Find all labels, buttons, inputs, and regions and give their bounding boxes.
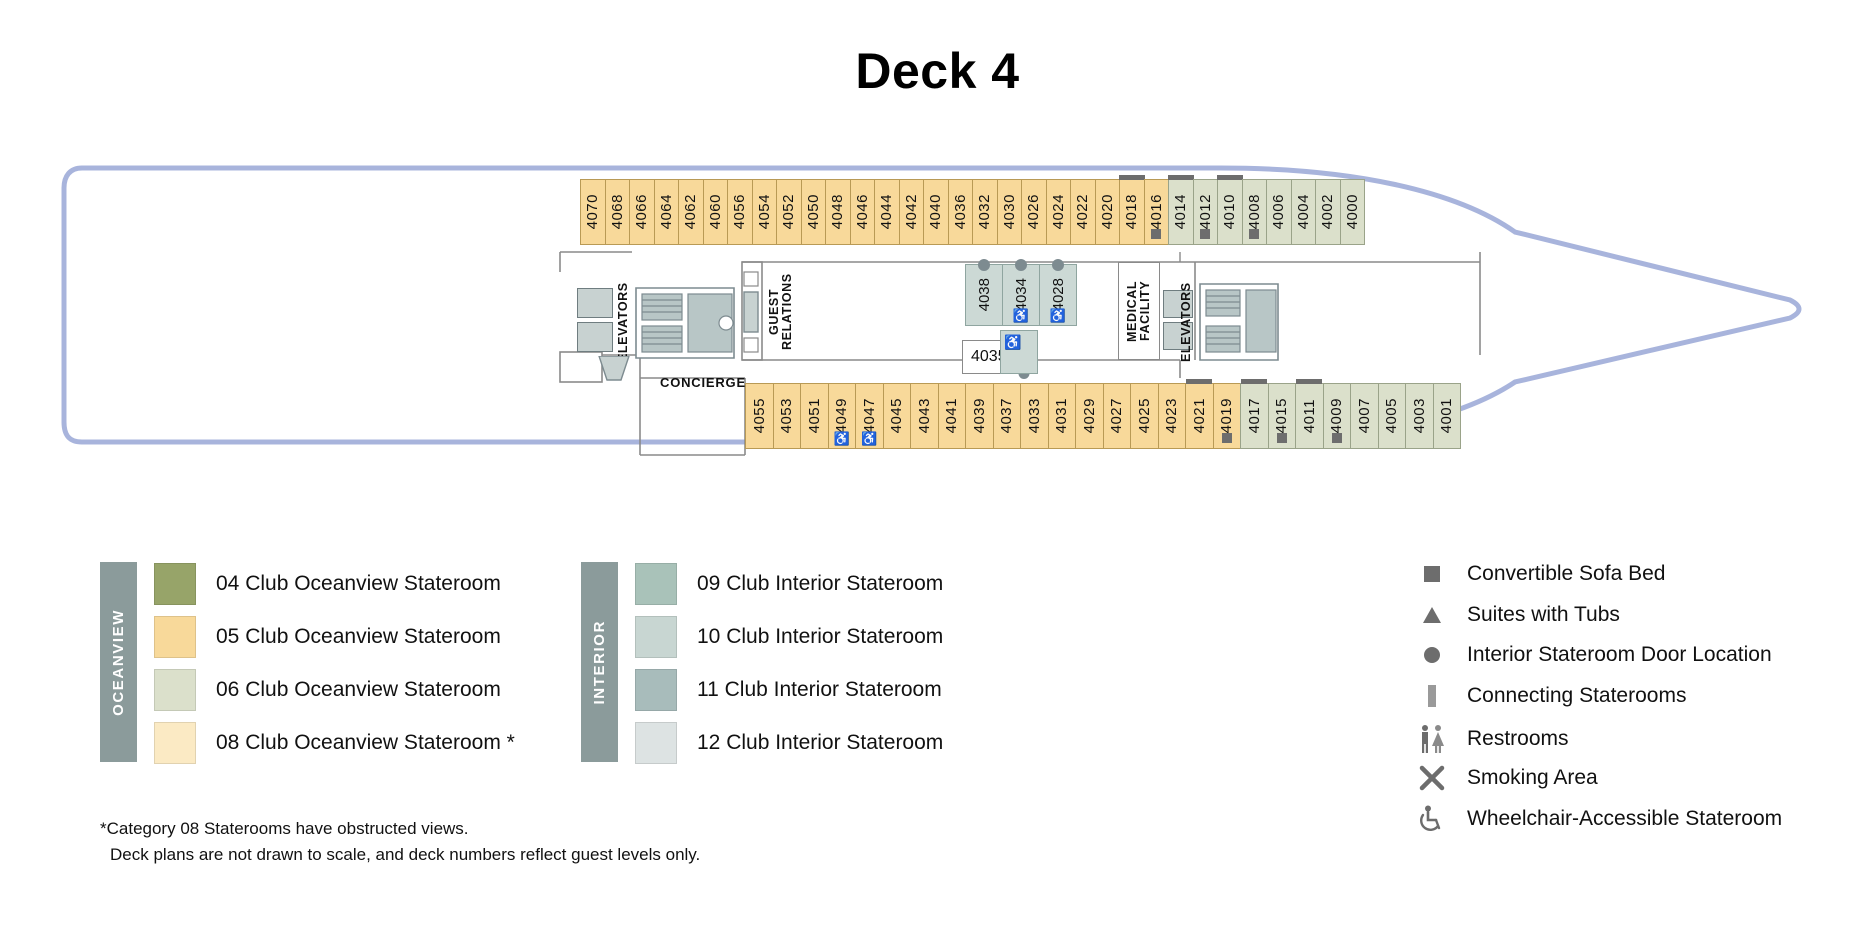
stateroom-4027[interactable]: 4027 (1103, 383, 1132, 449)
stateroom-4044[interactable]: 4044 (874, 179, 900, 245)
stateroom-number-label: 4062 (683, 194, 698, 229)
stateroom-number-label: 4006 (1271, 194, 1286, 229)
stateroom-number-label: 4053 (779, 398, 794, 433)
stateroom-number-label: 4029 (1082, 398, 1097, 433)
bar-icon (1241, 379, 1267, 384)
stateroom-number-label: 4036 (953, 194, 968, 229)
stateroom-4053[interactable]: 4053 (773, 383, 802, 449)
stateroom-number-label: 4012 (1198, 194, 1213, 229)
stateroom-4040[interactable]: 4040 (923, 179, 949, 245)
stateroom-4000[interactable]: 4000 (1340, 179, 1366, 245)
stateroom-number-label: 4070 (585, 194, 600, 229)
footnote: *Category 08 Staterooms have obstructed … (100, 816, 700, 867)
stateroom-4022[interactable]: 4022 (1070, 179, 1096, 245)
interior-stateroom-4034[interactable]: 4034♿ (1002, 264, 1040, 326)
square-icon (1249, 229, 1259, 239)
legend-label-11: 11 Club Interior Stateroom (697, 678, 942, 702)
stateroom-4064[interactable]: 4064 (654, 179, 680, 245)
elevator-car-aft-2[interactable] (577, 322, 613, 352)
legend-category-bar-interior-label: INTERIOR (591, 620, 608, 704)
legend-symbol-label: Suites with Tubs (1467, 603, 1620, 627)
wheelchair-icon: ♿ (1013, 309, 1029, 322)
triangle-icon (1415, 606, 1449, 624)
stateroom-row-top: 4070406840664064406240604056405440524050… (580, 179, 1364, 245)
stateroom-4008[interactable]: 4008 (1242, 179, 1268, 245)
stateroom-4052[interactable]: 4052 (776, 179, 802, 245)
stateroom-number-label: 4033 (1027, 398, 1042, 433)
square-icon (1200, 229, 1210, 239)
legend-symbol-label: Wheelchair-Accessible Stateroom (1467, 807, 1782, 831)
guest-relations-label: GUEST RELATIONS (768, 272, 794, 352)
wheelchair-icon: ♿ (834, 432, 850, 445)
legend-label-05: 05 Club Oceanview Stateroom (216, 625, 501, 649)
footnote-line-2: Deck plans are not drawn to scale, and d… (100, 842, 700, 868)
stateroom-4029[interactable]: 4029 (1075, 383, 1104, 449)
legend-symbol-label: Connecting Staterooms (1467, 684, 1686, 708)
legend-category-bar-oceanview-label: OCEANVIEW (110, 609, 127, 716)
stateroom-number-label: 4004 (1296, 194, 1311, 229)
stateroom-number-label: 4032 (977, 194, 992, 229)
legend-category-bar-interior: INTERIOR (581, 562, 618, 762)
square-icon (1151, 229, 1161, 239)
circle-icon (1052, 259, 1064, 271)
bar-icon (1217, 175, 1243, 180)
wheelchair-icon: ♿ (1050, 309, 1066, 322)
square-icon (1415, 565, 1449, 583)
stateroom-number-label: 4018 (1124, 194, 1139, 229)
stateroom-number-label: 4027 (1109, 398, 1124, 433)
stateroom-4005[interactable]: 4005 (1378, 383, 1407, 449)
legend-symbol-label: Convertible Sofa Bed (1467, 562, 1665, 586)
stateroom-number-label: 4014 (1173, 194, 1188, 229)
interior-stateroom-4028[interactable]: 4028♿ (1039, 264, 1077, 326)
stateroom-4042[interactable]: 4042 (899, 179, 925, 245)
stateroom-4033[interactable]: 4033 (1020, 383, 1049, 449)
stateroom-4026[interactable]: 4026 (1021, 179, 1047, 245)
legend-item-11: 11 Club Interior Stateroom (635, 669, 942, 711)
bar-icon (1296, 379, 1322, 384)
stateroom-number-label: 4008 (1247, 194, 1262, 229)
wheelchair-icon: ♿ (1004, 334, 1021, 351)
legend-symbol-item-5: Smoking Area (1415, 765, 1598, 791)
legend-symbol-item-2: Interior Stateroom Door Location (1415, 643, 1772, 667)
legend-swatch-10 (635, 616, 677, 658)
stateroom-4050[interactable]: 4050 (801, 179, 827, 245)
elevators-aft-label: ELEVATORS (617, 290, 630, 362)
stateroom-number-label: 4011 (1302, 399, 1317, 433)
concierge-label: CONCIERGE (660, 375, 746, 390)
stateroom-number-label: 4050 (806, 194, 821, 229)
wheelchair-icon: ♿ (861, 432, 877, 445)
legend-swatch-12 (635, 722, 677, 764)
stateroom-4011[interactable]: 4011 (1295, 383, 1324, 449)
square-icon (1222, 433, 1232, 443)
stateroom-4025[interactable]: 4025 (1130, 383, 1159, 449)
legend-swatch-04 (154, 563, 196, 605)
interior-stateroom-number-label: 4038 (976, 278, 993, 311)
stateroom-number-label: 4022 (1075, 194, 1090, 229)
stateroom-number-label: 4000 (1345, 194, 1360, 229)
stateroom-number-label: 4021 (1192, 398, 1207, 433)
stateroom-number-label: 4066 (634, 194, 649, 229)
stateroom-number-label: 4019 (1219, 398, 1234, 433)
legend-label-12: 12 Club Interior Stateroom (697, 731, 943, 755)
stateroom-number-label: 4055 (752, 398, 767, 433)
legend-symbol-item-1: Suites with Tubs (1415, 603, 1620, 627)
bar-icon (1415, 684, 1449, 708)
stateroom-number-label: 4039 (972, 398, 987, 433)
stateroom-4048[interactable]: 4048 (825, 179, 851, 245)
stateroom-number-label: 4042 (904, 194, 919, 229)
bar-icon (1168, 175, 1194, 180)
stateroom-number-label: 4052 (781, 194, 796, 229)
legend-label-10: 10 Club Interior Stateroom (697, 625, 943, 649)
stateroom-number-label: 4015 (1274, 398, 1289, 433)
stateroom-4036[interactable]: 4036 (948, 179, 974, 245)
legend-symbol-item-0: Convertible Sofa Bed (1415, 562, 1665, 586)
stateroom-4012[interactable]: 4012 (1193, 179, 1219, 245)
stateroom-4051[interactable]: 4051 (800, 383, 829, 449)
interior-stateroom-number-label: 4028 (1050, 278, 1067, 311)
stateroom-4060[interactable]: 4060 (703, 179, 729, 245)
stateroom-number-label: 4047 (862, 398, 877, 433)
deck-structure-lines (0, 0, 1875, 938)
legend-symbol-label: Interior Stateroom Door Location (1467, 643, 1772, 667)
stateroom-number-label: 4031 (1054, 398, 1069, 433)
legend-item-09: 09 Club Interior Stateroom (635, 563, 943, 605)
legend-swatch-05 (154, 616, 196, 658)
stateroom-4047[interactable]: 4047♿ (855, 383, 884, 449)
stateroom-4007[interactable]: 4007 (1350, 383, 1379, 449)
legend-swatch-09 (635, 563, 677, 605)
stateroom-number-label: 4048 (830, 194, 845, 229)
stateroom-number-label: 4060 (708, 194, 723, 229)
elevators-fwd-label: ELEVATORS (1180, 290, 1193, 362)
stateroom-4031[interactable]: 4031 (1048, 383, 1077, 449)
stateroom-number-label: 4045 (889, 398, 904, 433)
legend-item-06: 06 Club Oceanview Stateroom (154, 669, 501, 711)
stateroom-number-label: 4023 (1164, 398, 1179, 433)
square-icon (1332, 433, 1342, 443)
legend-item-04: 04 Club Oceanview Stateroom (154, 563, 501, 605)
stateroom-4030[interactable]: 4030 (997, 179, 1023, 245)
elevator-car-aft-1[interactable] (577, 288, 613, 318)
stair-landing-aft-icon (597, 356, 631, 382)
legend-symbol-label: Restrooms (1467, 727, 1569, 751)
stateroom-number-label: 4007 (1357, 398, 1372, 433)
stateroom-4021[interactable]: 4021 (1185, 383, 1214, 449)
legend-symbol-item-6: Wheelchair-Accessible Stateroom (1415, 805, 1782, 833)
interior-stateroom-block: 40384034♿4028♿ (965, 264, 1076, 326)
legend-symbol-label: Smoking Area (1467, 766, 1598, 790)
stateroom-4045[interactable]: 4045 (883, 383, 912, 449)
legend-label-09: 09 Club Interior Stateroom (697, 572, 943, 596)
legend-item-05: 05 Club Oceanview Stateroom (154, 616, 501, 658)
staircase-fwd-icon (1196, 276, 1282, 368)
stateroom-number-label: 4054 (757, 194, 772, 229)
stateroom-4037[interactable]: 4037 (993, 383, 1022, 449)
stateroom-number-label: 4068 (610, 194, 625, 229)
interior-stateroom-4038[interactable]: 4038 (965, 264, 1003, 326)
stateroom-4016[interactable]: 4016 (1144, 179, 1170, 245)
stateroom-number-label: 4009 (1329, 398, 1344, 433)
bar-icon (1119, 175, 1145, 180)
stateroom-number-label: 4010 (1222, 194, 1237, 229)
stateroom-number-label: 4020 (1100, 194, 1115, 229)
stateroom-4010[interactable]: 4010 (1217, 179, 1243, 245)
stateroom-number-label: 4026 (1026, 194, 1041, 229)
legend-swatch-08 (154, 722, 196, 764)
legend-item-10: 10 Club Interior Stateroom (635, 616, 943, 658)
stateroom-4056[interactable]: 4056 (727, 179, 753, 245)
stateroom-number-label: 4043 (917, 398, 932, 433)
stateroom-4032[interactable]: 4032 (972, 179, 998, 245)
stateroom-4049[interactable]: 4049♿ (828, 383, 857, 449)
stateroom-number-label: 4044 (879, 194, 894, 229)
legend-symbol-item-3: Connecting Staterooms (1415, 684, 1686, 708)
stateroom-4070[interactable]: 4070 (580, 179, 606, 245)
stateroom-number-label: 4051 (807, 398, 822, 433)
stateroom-row-bottom: 4055405340514049♿4047♿404540434041403940… (745, 383, 1460, 449)
square-icon (1277, 433, 1287, 443)
interior-stateroom-number-label: 4034 (1013, 278, 1030, 311)
legend-swatch-11 (635, 669, 677, 711)
circle-icon (978, 259, 990, 271)
stateroom-number-label: 4030 (1002, 194, 1017, 229)
stateroom-4014[interactable]: 4014 (1168, 179, 1194, 245)
stateroom-number-label: 4003 (1412, 398, 1427, 433)
stateroom-number-label: 4040 (928, 194, 943, 229)
stateroom-number-label: 4001 (1439, 398, 1454, 433)
legend-label-08: 08 Club Oceanview Stateroom * (216, 731, 515, 755)
stateroom-4019[interactable]: 4019 (1213, 383, 1242, 449)
legend-label-04: 04 Club Oceanview Stateroom (216, 572, 501, 596)
circle-icon (1015, 259, 1027, 271)
stateroom-4020[interactable]: 4020 (1095, 179, 1121, 245)
bar-icon (1186, 379, 1212, 384)
stateroom-4015[interactable]: 4015 (1268, 383, 1297, 449)
staircase-aft-icon (630, 278, 740, 368)
legend-item-12: 12 Club Interior Stateroom (635, 722, 943, 764)
stateroom-4001[interactable]: 4001 (1433, 383, 1462, 449)
stateroom-4062[interactable]: 4062 (678, 179, 704, 245)
stateroom-4068[interactable]: 4068 (605, 179, 631, 245)
stateroom-number-label: 4041 (944, 398, 959, 433)
restroom-icon (1415, 724, 1449, 754)
stateroom-number-label: 4049 (834, 398, 849, 433)
stateroom-4054[interactable]: 4054 (752, 179, 778, 245)
stateroom-number-label: 4037 (999, 398, 1014, 433)
stateroom-4017[interactable]: 4017 (1240, 383, 1269, 449)
deck-plan: 4070406840664064406240604056405440524050… (0, 0, 1875, 938)
stateroom-4009[interactable]: 4009 (1323, 383, 1352, 449)
medical-facility-label: MEDICAL FACILITY (1126, 268, 1154, 354)
legend-label-06: 06 Club Oceanview Stateroom (216, 678, 501, 702)
stateroom-4023[interactable]: 4023 (1158, 383, 1187, 449)
stateroom-4046[interactable]: 4046 (850, 179, 876, 245)
stateroom-4055[interactable]: 4055 (745, 383, 774, 449)
footnote-line-1: *Category 08 Staterooms have obstructed … (100, 816, 700, 842)
legend-item-08: 08 Club Oceanview Stateroom * (154, 722, 515, 764)
stateroom-4004[interactable]: 4004 (1291, 179, 1317, 245)
stateroom-number-label: 4017 (1247, 398, 1262, 433)
stateroom-4024[interactable]: 4024 (1046, 179, 1072, 245)
stateroom-number-label: 4064 (659, 194, 674, 229)
legend-swatch-06 (154, 669, 196, 711)
stateroom-number-label: 4016 (1149, 194, 1164, 229)
legend-symbol-item-4: Restrooms (1415, 724, 1569, 754)
stateroom-4041[interactable]: 4041 (938, 383, 967, 449)
stateroom-4066[interactable]: 4066 (629, 179, 655, 245)
stateroom-number-label: 4025 (1137, 398, 1152, 433)
stateroom-4006[interactable]: 4006 (1266, 179, 1292, 245)
stateroom-4003[interactable]: 4003 (1405, 383, 1434, 449)
wheelchair-icon (1415, 805, 1449, 833)
stateroom-4043[interactable]: 4043 (910, 383, 939, 449)
stateroom-4039[interactable]: 4039 (965, 383, 994, 449)
stateroom-number-label: 4056 (732, 194, 747, 229)
smoking-x-icon (1415, 765, 1449, 791)
legend-category-bar-oceanview: OCEANVIEW (100, 562, 137, 762)
circle-icon (1415, 646, 1449, 664)
stateroom-number-label: 4046 (855, 194, 870, 229)
stateroom-number-label: 4002 (1320, 194, 1335, 229)
stateroom-4002[interactable]: 4002 (1315, 179, 1341, 245)
stateroom-number-label: 4005 (1384, 398, 1399, 433)
stateroom-4018[interactable]: 4018 (1119, 179, 1145, 245)
stateroom-number-label: 4024 (1051, 194, 1066, 229)
